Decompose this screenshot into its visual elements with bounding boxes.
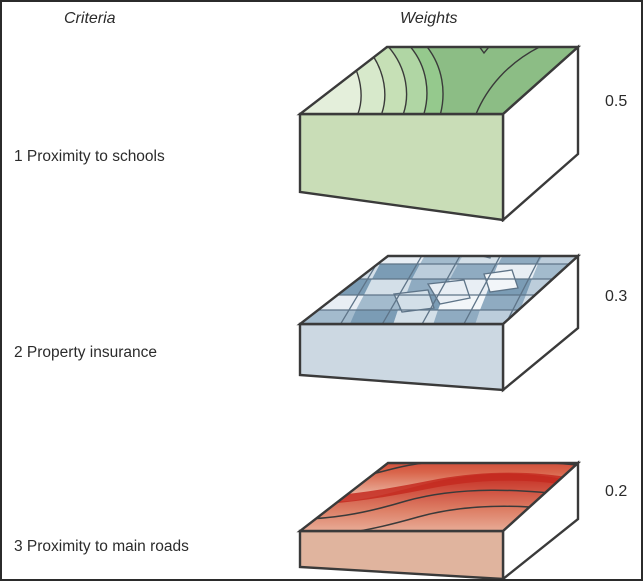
criterion-label-1: 1 Proximity to schools [14,148,165,166]
proximity-to-schools-raster-block [288,42,588,222]
proximity-to-main-roads-buffer-block [288,457,588,581]
column-header-criteria: Criteria [64,10,116,28]
criterion-label-3: 3 Proximity to main roads [14,538,189,556]
layer3-front-face [300,531,503,579]
weight-value-1: 0.5 [605,93,627,111]
weight-value-2: 0.3 [605,288,627,306]
property-insurance-parcel-block [288,250,588,395]
layer1-front-face [300,114,503,220]
criteria-weights-figure: Criteria Weights document.querySelector(… [0,0,643,581]
criterion-label-2: 2 Property insurance [14,344,157,362]
weight-value-3: 0.2 [605,483,627,501]
column-header-weights: Weights [400,10,458,28]
layer2-front-face [300,324,503,390]
